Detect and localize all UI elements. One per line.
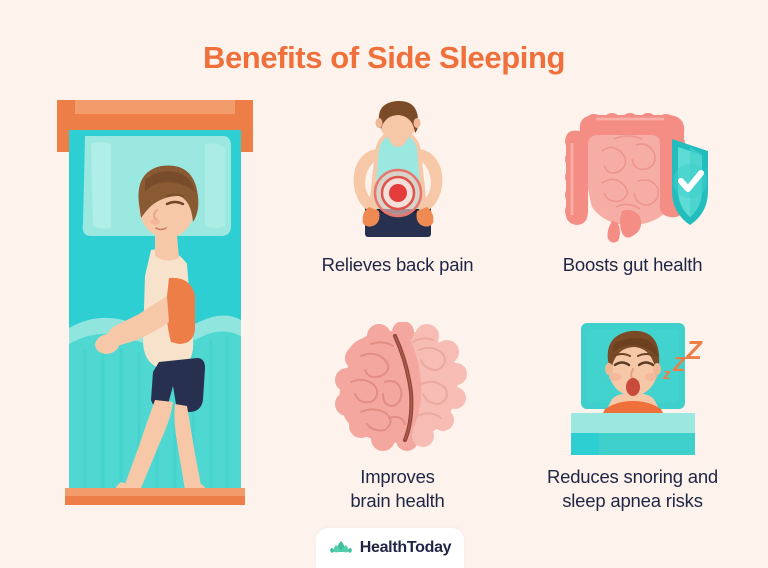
benefit-label-line2: sleep apnea risks: [515, 489, 750, 513]
brain-svg: [323, 322, 473, 457]
lotus-icon: [329, 539, 353, 557]
benefit-reduces-snoring: z Z Z Reduces snoring and sleep apnea ri…: [515, 307, 750, 512]
benefits-grid: Relieves back pain: [280, 95, 750, 515]
benefit-label: Reduces snoring and sleep apnea risks: [515, 465, 750, 512]
benefit-label-line1: Reduces snoring and: [515, 465, 750, 489]
benefit-label: Improves brain health: [280, 465, 515, 512]
brand-logo[interactable]: HealthToday: [316, 528, 464, 568]
back-pain-icon: [280, 95, 515, 245]
gut-health-svg: [550, 95, 715, 245]
side-sleeping-illustration: [55, 100, 255, 505]
snore-z-medium: Z: [672, 354, 686, 376]
lotus-svg: [329, 539, 353, 557]
benefit-label: Relieves back pain: [280, 253, 515, 277]
gut-health-icon: [515, 95, 750, 245]
side-sleeping-svg: [55, 100, 255, 505]
brain-icon: [280, 307, 515, 457]
page-title: Benefits of Side Sleeping: [0, 40, 768, 76]
infographic-root: Benefits of Side Sleeping: [0, 0, 768, 568]
snore-z-large: Z: [685, 335, 703, 365]
benefit-improves-brain-health: Improves brain health: [280, 307, 515, 512]
benefit-label: Boosts gut health: [515, 253, 750, 277]
snoring-icon: z Z Z: [515, 307, 750, 457]
back-pain-svg: [323, 95, 473, 245]
benefit-boosts-gut-health: Boosts gut health: [515, 95, 750, 277]
benefit-relieves-back-pain: Relieves back pain: [280, 95, 515, 277]
snore-z-small: z: [662, 366, 671, 383]
benefit-label-line1: Improves: [280, 465, 515, 489]
brand-name: HealthToday: [360, 539, 452, 557]
snoring-svg: z Z Z: [553, 317, 713, 457]
benefit-label-line2: brain health: [280, 489, 515, 513]
